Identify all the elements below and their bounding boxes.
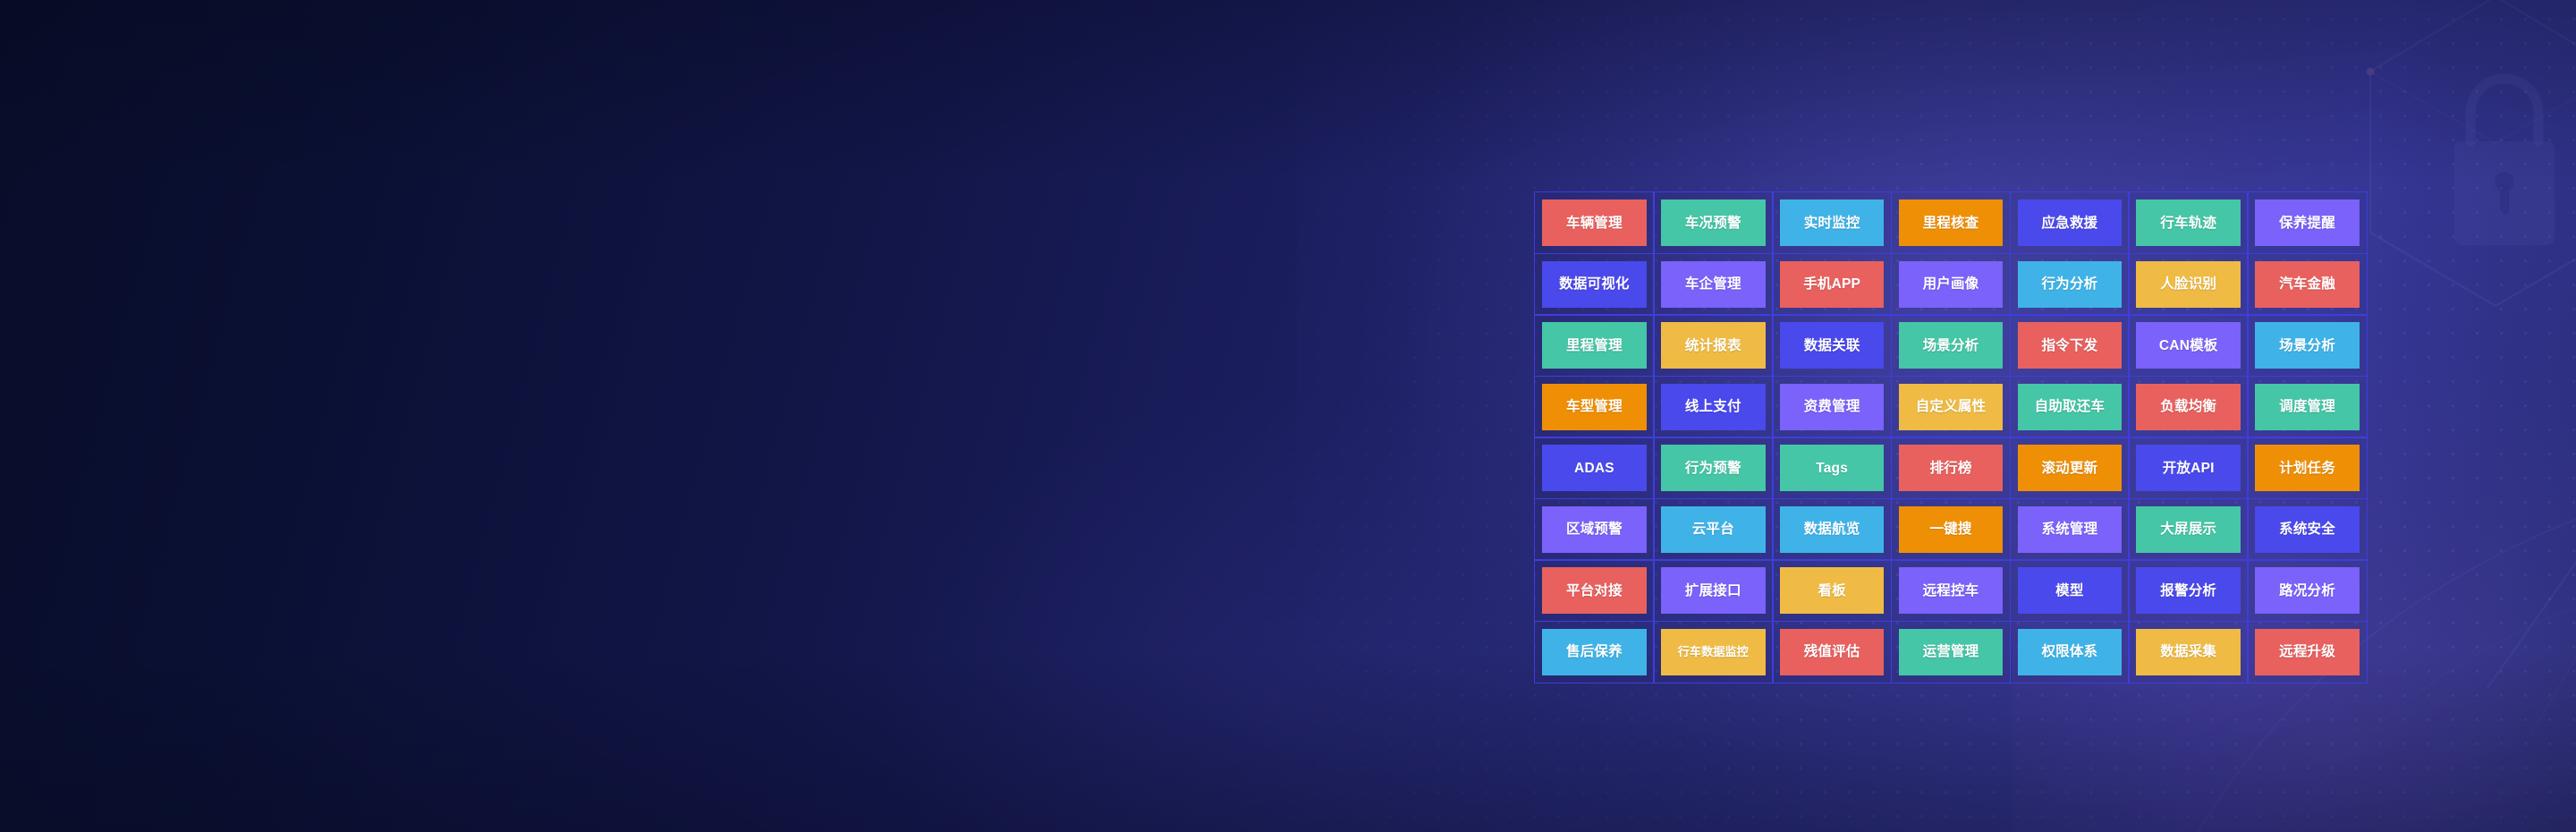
feature-tile-label: 运营管理 (1899, 629, 2003, 675)
feature-tile-label: 行车数据监控 (1661, 629, 1765, 675)
feature-tile[interactable]: 资费管理 (1772, 376, 1892, 438)
feature-tile-label: ADAS (1542, 445, 1646, 491)
feature-tile[interactable]: CAN模板 (2128, 314, 2248, 377)
feature-tile[interactable]: 开放API (2128, 437, 2248, 499)
feature-tile[interactable]: 线上支付 (1653, 376, 1773, 438)
feature-tile[interactable]: 数据可视化 (1534, 253, 1654, 316)
feature-tile[interactable]: 数据航览 (1772, 498, 1892, 561)
feature-tile-label: 系统管理 (2018, 506, 2122, 553)
feature-tile[interactable]: 手机APP (1772, 253, 1892, 316)
feature-tile[interactable]: 统计报表 (1653, 314, 1773, 377)
feature-tile[interactable]: 模型 (2010, 559, 2130, 622)
feature-tile-label: 残值评估 (1780, 629, 1884, 675)
feature-tile-label: 行为预警 (1661, 445, 1765, 491)
feature-tile[interactable]: 自定义属性 (1891, 376, 2011, 438)
feature-tile-label: 计划任务 (2255, 445, 2359, 491)
feature-tile[interactable]: 残值评估 (1772, 621, 1892, 683)
feature-tile-label: 权限体系 (2018, 629, 2122, 675)
feature-tile-label: 系统安全 (2255, 506, 2359, 553)
feature-tile[interactable]: 汽车金融 (2247, 253, 2367, 316)
feature-tile[interactable]: 售后保养 (1534, 621, 1654, 683)
feature-tile[interactable]: 车企管理 (1653, 253, 1773, 316)
feature-tile[interactable]: 区域预警 (1534, 498, 1654, 561)
feature-tile[interactable]: 行为分析 (2010, 253, 2130, 316)
feature-tile[interactable]: 车况预警 (1653, 191, 1773, 254)
feature-tile[interactable]: 里程核查 (1891, 191, 2011, 254)
feature-tile-label: 里程管理 (1542, 322, 1646, 369)
feature-tile-label: 模型 (2018, 567, 2122, 614)
feature-tile-label: 数据采集 (2136, 629, 2240, 675)
feature-tile-label: 汽车金融 (2255, 261, 2359, 308)
feature-tile-label: 区域预警 (1542, 506, 1646, 553)
feature-tile-label: 滚动更新 (2018, 445, 2122, 491)
feature-tile[interactable]: 行车轨迹 (2128, 191, 2248, 254)
feature-tile-label: 数据航览 (1780, 506, 1884, 553)
feature-tile[interactable]: 车辆管理 (1534, 191, 1654, 254)
feature-tile-label: 里程核查 (1899, 200, 2003, 246)
feature-tile[interactable]: 计划任务 (2247, 437, 2367, 499)
feature-tile-label: 扩展接口 (1661, 567, 1765, 614)
feature-tile-label: 路况分析 (2255, 567, 2359, 614)
feature-tile[interactable]: 系统安全 (2247, 498, 2367, 561)
feature-tile[interactable]: 排行榜 (1891, 437, 2011, 499)
feature-tile-label: 云平台 (1661, 506, 1765, 553)
feature-tile-label: 车辆管理 (1542, 200, 1646, 246)
feature-tile[interactable]: 路况分析 (2247, 559, 2367, 622)
feature-tile-label: 统计报表 (1661, 322, 1765, 369)
feature-tile[interactable]: 车型管理 (1534, 376, 1654, 438)
feature-tile-label: 开放API (2136, 445, 2240, 491)
feature-tile-label: CAN模板 (2136, 322, 2240, 369)
feature-tile-label: 应急救援 (2018, 200, 2122, 246)
feature-tile[interactable]: 报警分析 (2128, 559, 2248, 622)
feature-tile-label: 负载均衡 (2136, 384, 2240, 430)
feature-tile-label: 用户画像 (1899, 261, 2003, 308)
feature-tile-label: 调度管理 (2255, 384, 2359, 430)
feature-tile[interactable]: 实时监控 (1772, 191, 1892, 254)
feature-tile[interactable]: 滚动更新 (2010, 437, 2130, 499)
feature-tile[interactable]: 指令下发 (2010, 314, 2130, 377)
feature-tile-label: 指令下发 (2018, 322, 2122, 369)
feature-tile[interactable]: 调度管理 (2247, 376, 2367, 438)
feature-tile[interactable]: 远程升级 (2247, 621, 2367, 683)
feature-tile-label: 资费管理 (1780, 384, 1884, 430)
feature-tile-grid: 车辆管理车况预警实时监控里程核查应急救援行车轨迹保养提醒数据可视化车企管理手机A… (1535, 192, 2367, 683)
feature-tile[interactable]: 权限体系 (2010, 621, 2130, 683)
feature-tile-label: 大屏展示 (2136, 506, 2240, 553)
feature-tile[interactable]: ADAS (1534, 437, 1654, 499)
feature-tile-label: 车型管理 (1542, 384, 1646, 430)
feature-tile-label: 看板 (1780, 567, 1884, 614)
feature-tile-label: 场景分析 (1899, 322, 2003, 369)
feature-tile-label: 数据关联 (1780, 322, 1884, 369)
feature-tile[interactable]: 用户画像 (1891, 253, 2011, 316)
feature-tile-label: 数据可视化 (1542, 261, 1646, 308)
feature-tile[interactable]: 数据关联 (1772, 314, 1892, 377)
feature-tile-label: 一键搜 (1899, 506, 2003, 553)
feature-tile-label: 手机APP (1780, 261, 1884, 308)
feature-tile[interactable]: 一键搜 (1891, 498, 2011, 561)
feature-tile-label: 线上支付 (1661, 384, 1765, 430)
feature-tile[interactable]: 平台对接 (1534, 559, 1654, 622)
feature-tile[interactable]: 远程控车 (1891, 559, 2011, 622)
feature-tile[interactable]: Tags (1772, 437, 1892, 499)
feature-tile-label: 车企管理 (1661, 261, 1765, 308)
feature-tile[interactable]: 保养提醒 (2247, 191, 2367, 254)
feature-tile-label: 自助取还车 (2018, 384, 2122, 430)
feature-tile[interactable]: 云平台 (1653, 498, 1773, 561)
feature-tile[interactable]: 行车数据监控 (1653, 621, 1773, 683)
feature-tile[interactable]: 系统管理 (2010, 498, 2130, 561)
feature-tile[interactable]: 人脸识别 (2128, 253, 2248, 316)
feature-tile-label: 排行榜 (1899, 445, 2003, 491)
feature-tile-label: 自定义属性 (1899, 384, 2003, 430)
feature-tile-label: 实时监控 (1780, 200, 1884, 246)
feature-tile[interactable]: 里程管理 (1534, 314, 1654, 377)
feature-tile-label: 人脸识别 (2136, 261, 2240, 308)
feature-tile[interactable]: 负载均衡 (2128, 376, 2248, 438)
feature-tile-label: 远程升级 (2255, 629, 2359, 675)
feature-tile-label: 平台对接 (1542, 567, 1646, 614)
feature-tile[interactable]: 场景分析 (1891, 314, 2011, 377)
feature-tile[interactable]: 数据采集 (2128, 621, 2248, 683)
feature-tile[interactable]: 运营管理 (1891, 621, 2011, 683)
feature-tile[interactable]: 应急救援 (2010, 191, 2130, 254)
feature-tile-label: 售后保养 (1542, 629, 1646, 675)
feature-tile-label: 场景分析 (2255, 322, 2359, 369)
feature-tile-label: 行车轨迹 (2136, 200, 2240, 246)
feature-tile[interactable]: 看板 (1772, 559, 1892, 622)
feature-tile-label: 车况预警 (1661, 200, 1765, 246)
feature-tile-label: 报警分析 (2136, 567, 2240, 614)
feature-tile[interactable]: 场景分析 (2247, 314, 2367, 377)
feature-tile-label: Tags (1780, 445, 1884, 491)
feature-tile[interactable]: 行为预警 (1653, 437, 1773, 499)
feature-tile-label: 远程控车 (1899, 567, 2003, 614)
feature-tile[interactable]: 自助取还车 (2010, 376, 2130, 438)
feature-tile[interactable]: 大屏展示 (2128, 498, 2248, 561)
feature-tile-label: 保养提醒 (2255, 200, 2359, 246)
feature-tile-label: 行为分析 (2018, 261, 2122, 308)
feature-tile[interactable]: 扩展接口 (1653, 559, 1773, 622)
